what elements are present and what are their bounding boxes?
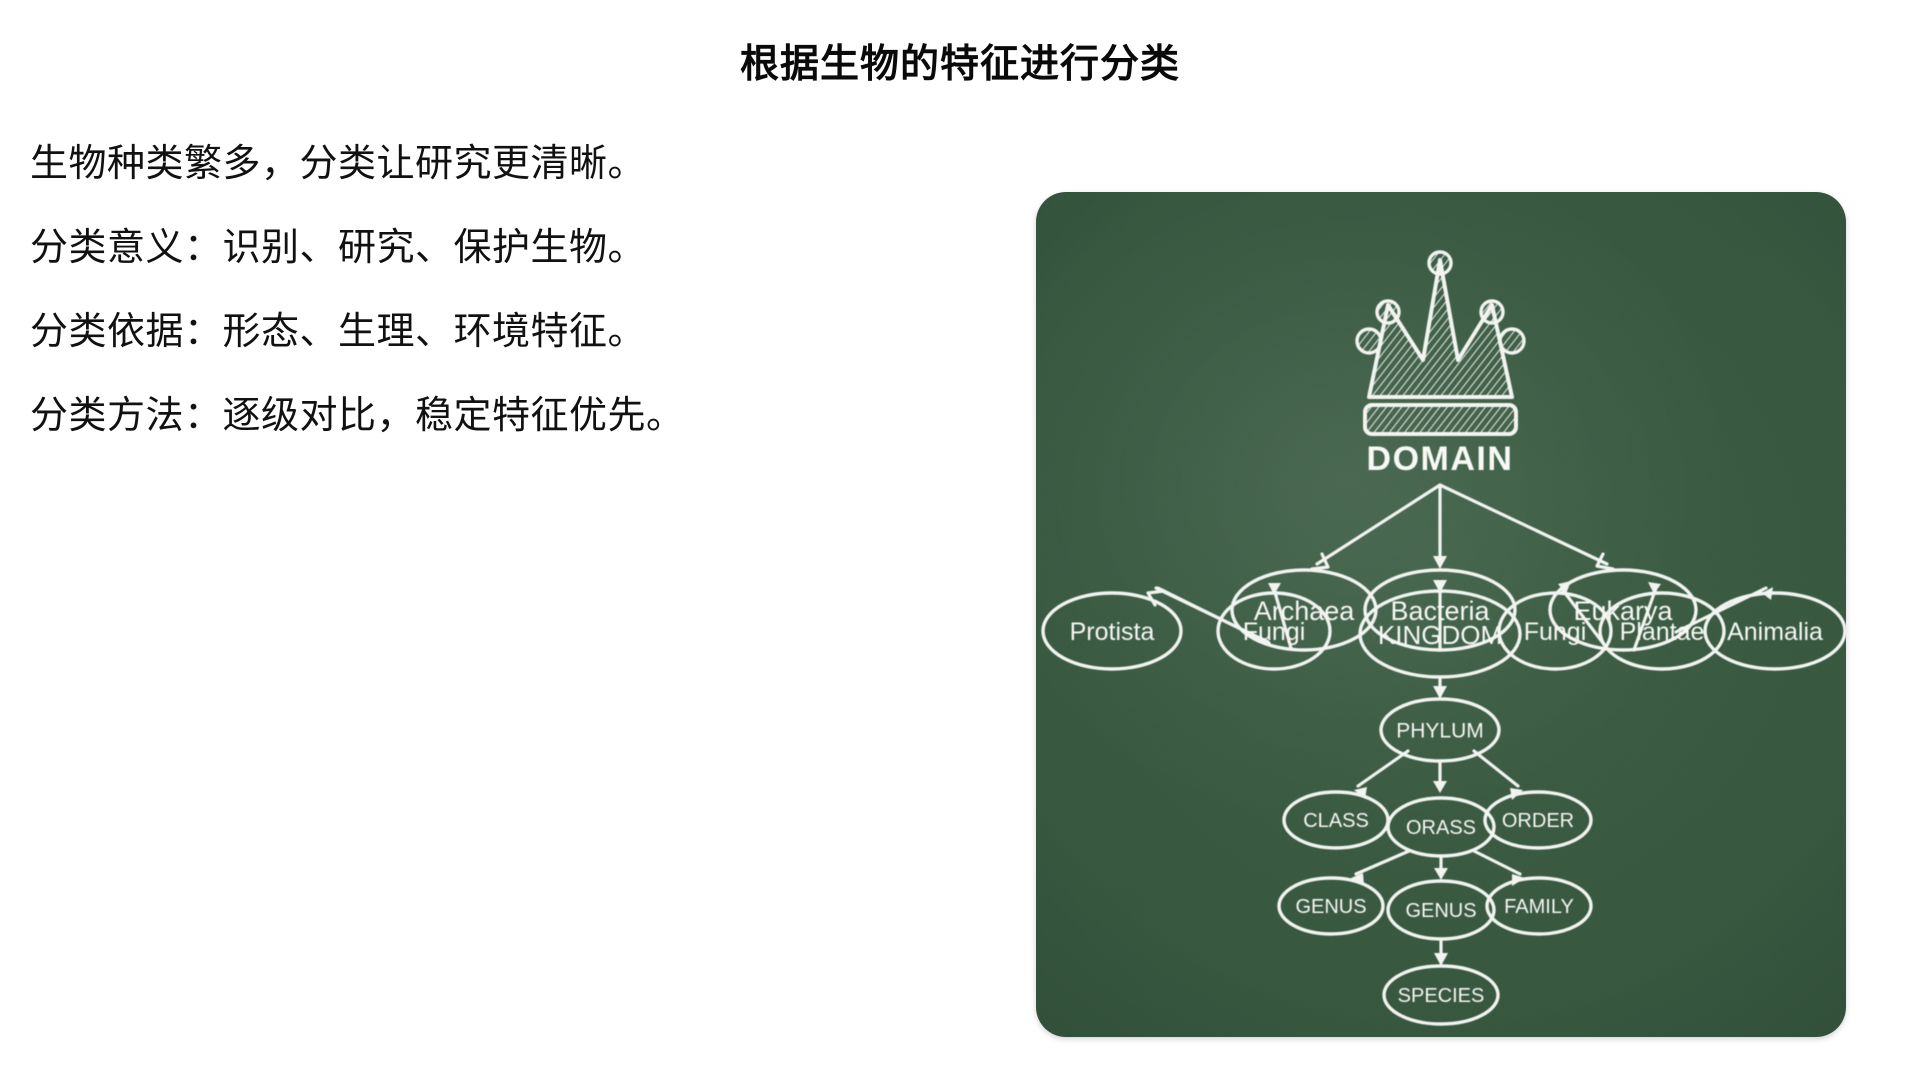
node-label-genus-2: GENUS: [1405, 900, 1476, 922]
node-label-kingdom: KINGDOM: [1378, 620, 1502, 650]
node-label-plantae: Plantae: [1620, 618, 1705, 646]
bullet-list: 生物种类繁多，分类让研究更清晰。 分类意义：识别、研究、保护生物。 分类依据：形…: [30, 145, 860, 481]
node-orass[interactable]: ORASS: [1388, 798, 1494, 856]
node-genus-2[interactable]: GENUS: [1388, 881, 1494, 939]
node-animalia[interactable]: Animalia: [1705, 593, 1845, 669]
node-label-fungi-1: Fungi: [1243, 618, 1306, 646]
node-label-order: ORDER: [1502, 810, 1574, 832]
crown-icon: [1357, 252, 1524, 434]
edge-domain-archaea: [1317, 485, 1440, 564]
node-label-protista: Protista: [1070, 618, 1155, 646]
chalkboard-panel: DOMAIN: [1036, 192, 1846, 1037]
bullet-line-4: 分类方法：逐级对比，稳定特征优先。: [30, 397, 860, 435]
node-order[interactable]: ORDER: [1485, 792, 1591, 848]
node-label-class: CLASS: [1303, 810, 1369, 832]
node-label-family: FAMILY: [1504, 896, 1574, 918]
node-label-species: SPECIES: [1398, 985, 1485, 1007]
node-class[interactable]: CLASS: [1284, 792, 1388, 848]
node-genus-1[interactable]: GENUS: [1279, 878, 1383, 934]
node-label-animalia: Animalia: [1727, 618, 1823, 646]
bullet-line-1: 生物种类繁多，分类让研究更清晰。: [30, 145, 860, 183]
node-label-genus-1: GENUS: [1295, 896, 1366, 918]
node-species[interactable]: SPECIES: [1384, 966, 1498, 1024]
edge-domain-eukarya: [1440, 485, 1607, 564]
node-label-fungi-2: Fungi: [1524, 618, 1587, 646]
bullet-line-2: 分类意义：识别、研究、保护生物。: [30, 229, 860, 267]
taxonomy-diagram: DOMAIN: [1036, 192, 1846, 1037]
node-protista[interactable]: Protista: [1043, 593, 1181, 669]
page-title: 根据生物的特征进行分类: [0, 42, 1920, 89]
node-label-phylum: PHYLUM: [1396, 720, 1484, 743]
node-label-orass: ORASS: [1406, 817, 1476, 839]
root-node-domain: DOMAIN: [1367, 440, 1514, 478]
node-family[interactable]: FAMILY: [1487, 878, 1591, 934]
bullet-line-3: 分类依据：形态、生理、环境特征。: [30, 313, 860, 351]
node-phylum[interactable]: PHYLUM: [1381, 699, 1499, 761]
